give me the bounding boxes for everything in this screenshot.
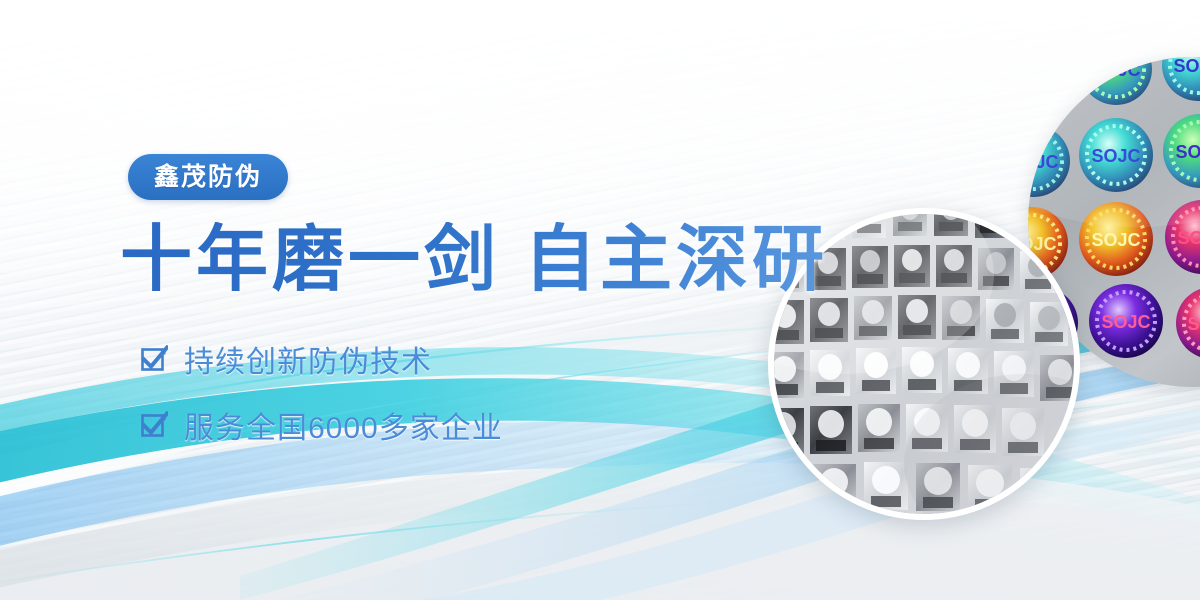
brand-badge: 鑫茂防伪 — [128, 154, 288, 200]
brand-badge-label: 鑫茂防伪 — [154, 165, 262, 190]
promo-banner: SOJC SOJC SOJC SOJC — [0, 0, 1200, 600]
checkbox-check-icon — [140, 345, 168, 373]
banner-content: 鑫茂防伪 十年磨一剑 自主深研 持续创新防伪技术 — [0, 0, 1200, 600]
checkbox-check-icon — [140, 411, 168, 439]
feature-list: 持续创新防伪技术 服务全国6000多家企业 — [140, 334, 503, 466]
feature-item: 服务全国6000多家企业 — [140, 400, 503, 450]
headline-title: 十年磨一剑 自主深研 — [120, 222, 828, 298]
feature-item-label: 持续创新防伪技术 — [184, 337, 432, 381]
feature-item-label: 服务全国6000多家企业 — [184, 403, 503, 447]
feature-item: 持续创新防伪技术 — [140, 334, 503, 384]
